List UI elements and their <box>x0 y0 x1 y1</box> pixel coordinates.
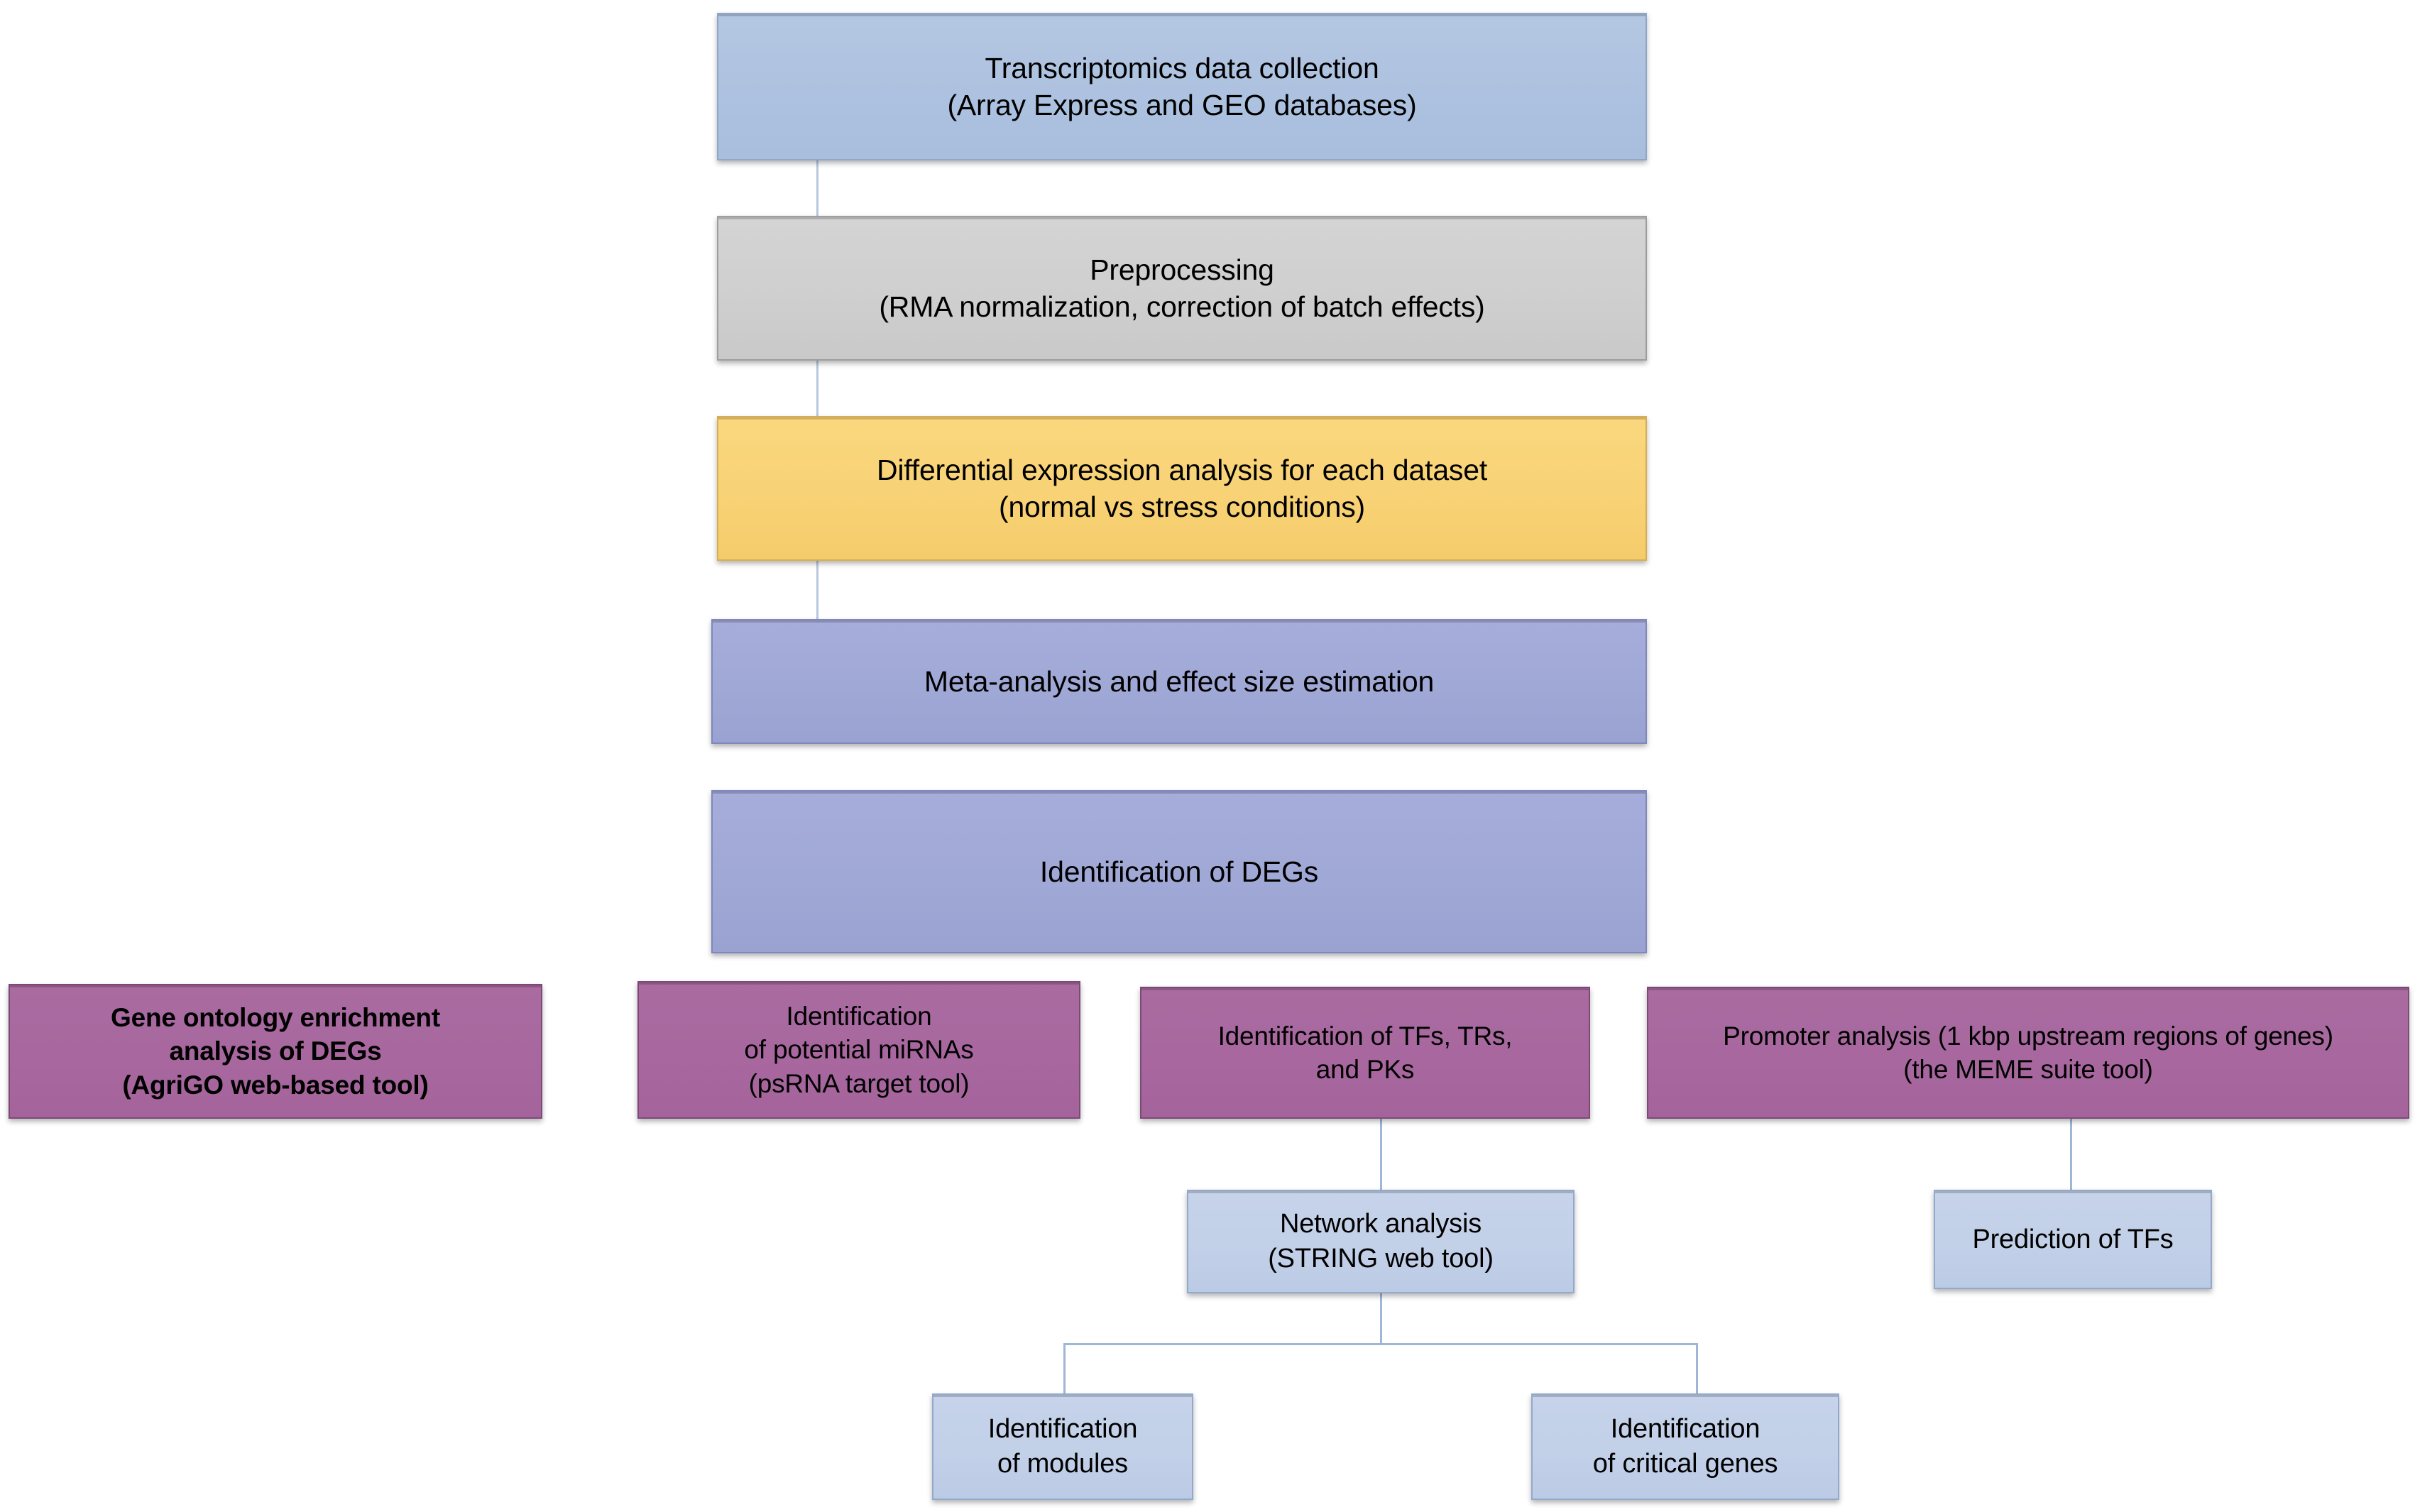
node-preprocessing[interactable]: Preprocessing (RMA normalization, correc… <box>717 216 1647 361</box>
connector-network-analysis-branch-bar <box>1063 1343 1698 1345</box>
node-meta-analysis[interactable]: Meta-analysis and effect size estimation <box>711 619 1647 744</box>
node-go-enrichment[interactable]: Gene ontology enrichment analysis of DEG… <box>9 984 542 1119</box>
connector-tf-to-network-analysis <box>1380 1119 1382 1190</box>
node-mirna-identification[interactable]: Identification of potential miRNAs (psRN… <box>637 981 1080 1119</box>
connector-preprocessing-to-differential-expression <box>816 361 818 417</box>
node-differential-expression[interactable]: Differential expression analysis for eac… <box>717 416 1647 561</box>
connector-branch-to-identification-of-critical-genes <box>1696 1343 1698 1394</box>
node-tf-tr-pk-identification[interactable]: Identification of TFs, TRs, and PKs <box>1140 987 1590 1119</box>
node-identification-of-critical-genes[interactable]: Identification of critical genes <box>1531 1393 1839 1500</box>
node-promoter-analysis[interactable]: Promoter analysis (1 kbp upstream region… <box>1647 987 2409 1119</box>
node-identification-of-degs[interactable]: Identification of DEGs <box>711 790 1647 953</box>
connector-branch-to-identification-of-modules <box>1063 1343 1066 1394</box>
node-identification-of-modules[interactable]: Identification of modules <box>932 1393 1193 1500</box>
connector-differential-expression-to-meta-analysis <box>816 561 818 619</box>
node-data-collection[interactable]: Transcriptomics data collection (Array E… <box>717 13 1647 160</box>
connector-promoter-to-prediction-of-tfs <box>2070 1119 2072 1190</box>
node-network-analysis[interactable]: Network analysis (STRING web tool) <box>1187 1190 1575 1293</box>
connector-data-collection-to-preprocessing <box>816 160 818 219</box>
flowchart-canvas: Transcriptomics data collection (Array E… <box>0 0 2415 1512</box>
connector-network-analysis-stem <box>1380 1293 1382 1344</box>
node-prediction-of-tfs[interactable]: Prediction of TFs <box>1934 1190 2212 1289</box>
